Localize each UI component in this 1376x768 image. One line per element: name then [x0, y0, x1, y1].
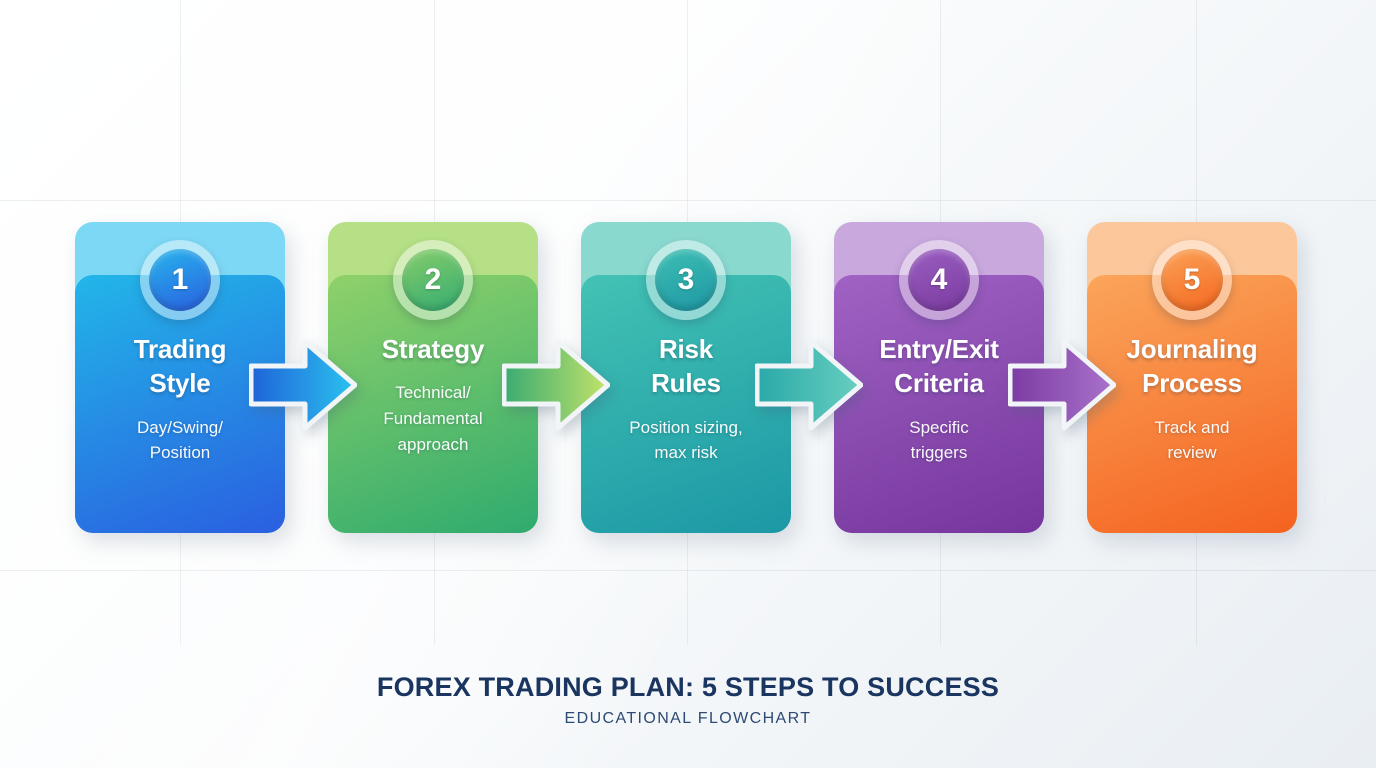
badge-number-text: 3 — [678, 265, 695, 295]
badge-number-text: 5 — [1184, 265, 1201, 295]
card-title: Journaling Process — [1097, 332, 1287, 401]
badge-inner-circle: 1 — [149, 249, 211, 311]
arrow-1-to-2-icon — [249, 336, 357, 434]
infographic-canvas: Trading StyleDay/Swing/ Position1Strateg… — [0, 0, 1376, 768]
page-subtitle: EDUCATIONAL FLOWCHART — [0, 710, 1376, 728]
step-number-badge-5: 5 — [1152, 240, 1232, 320]
grid-line-horizontal-1 — [0, 200, 1376, 201]
card-title: Entry/Exit Criteria — [844, 332, 1034, 401]
card-description: Track and review — [1097, 415, 1287, 467]
footer: FOREX TRADING PLAN: 5 STEPS TO SUCCESS E… — [0, 672, 1376, 728]
card-description: Technical/ Fundamental approach — [338, 380, 528, 457]
card-description: Position sizing, max risk — [591, 415, 781, 467]
arrow-4-to-5-icon — [1008, 336, 1116, 434]
badge-number-text: 2 — [425, 265, 442, 295]
step-number-badge-2: 2 — [393, 240, 473, 320]
badge-number-text: 1 — [172, 265, 189, 295]
card-title: Strategy — [338, 332, 528, 366]
step-number-badge-3: 3 — [646, 240, 726, 320]
badge-inner-circle: 4 — [908, 249, 970, 311]
arrow-2-to-3-icon — [502, 336, 610, 434]
page-title: FOREX TRADING PLAN: 5 STEPS TO SUCCESS — [0, 672, 1376, 703]
card-description: Specific triggers — [844, 415, 1034, 467]
badge-number-text: 4 — [931, 265, 948, 295]
badge-inner-circle: 5 — [1161, 249, 1223, 311]
step-number-badge-4: 4 — [899, 240, 979, 320]
card-content: Journaling ProcessTrack and review — [1087, 332, 1297, 466]
grid-line-horizontal-2 — [0, 570, 1376, 571]
card-description: Day/Swing/ Position — [85, 415, 275, 467]
step-number-badge-1: 1 — [140, 240, 220, 320]
arrow-3-to-4-icon — [755, 336, 863, 434]
badge-inner-circle: 3 — [655, 249, 717, 311]
card-title: Trading Style — [85, 332, 275, 401]
badge-inner-circle: 2 — [402, 249, 464, 311]
card-title: Risk Rules — [591, 332, 781, 401]
